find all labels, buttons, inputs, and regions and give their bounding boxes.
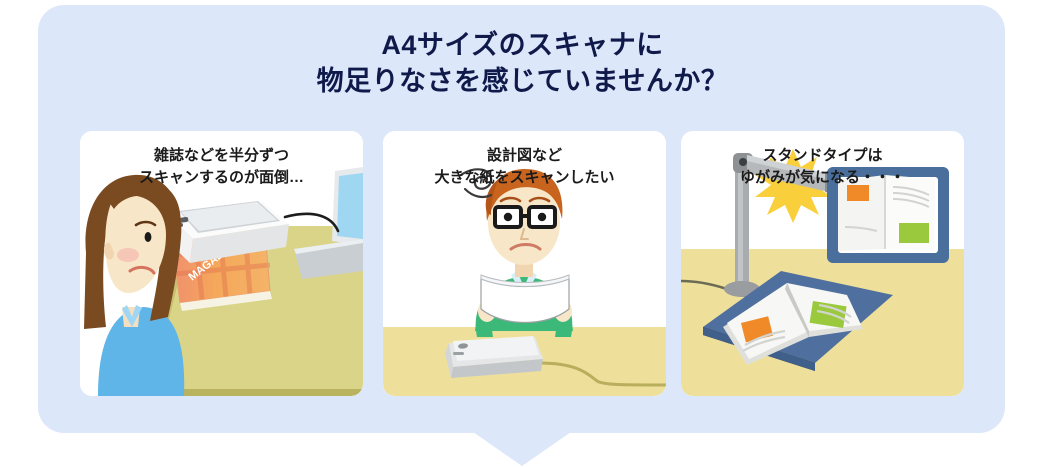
headline-line-2: 物足りなさを感じていませんか？: [0, 64, 1045, 100]
caption-line-2: ゆがみが気になる・・・: [681, 167, 964, 189]
caption-line-1: 設計図など: [383, 145, 666, 167]
preview-sticky-green: [899, 223, 929, 243]
eye: [145, 232, 152, 242]
card-caption: 雑誌などを半分ずつ スキャンするのが面倒…: [80, 145, 363, 189]
caption-line-1: 雑誌などを半分ずつ: [80, 145, 363, 167]
promo-banner: A4サイズのスキャナに 物足りなさを感じていませんか？ 雑誌などを半分ずつ スキ…: [0, 0, 1045, 467]
card-stand-type-scan: スタンドタイプは ゆがみが気になる・・・: [681, 131, 964, 396]
panel-arrow-notch: [473, 432, 571, 466]
card-caption: 設計図など 大きな紙をスキャンしたい: [383, 145, 666, 189]
large-paper: [481, 275, 569, 323]
caption-line-2: 大きな紙をスキャンしたい: [383, 167, 666, 189]
page-title: A4サイズのスキャナに 物足りなさを感じていませんか？: [0, 28, 1045, 99]
headline-line-1: A4サイズのスキャナに: [0, 28, 1045, 64]
caption-line-1: スタンドタイプは: [681, 145, 964, 167]
caption-line-2: スキャンするのが面倒…: [80, 167, 363, 189]
flatbed-scanner: [445, 336, 543, 378]
card-caption: スタンドタイプは ゆがみが気になる・・・: [681, 145, 964, 189]
cheek-blush: [117, 248, 139, 262]
card-magazine-scan: 雑誌などを半分ずつ スキャンするのが面倒…: [80, 131, 363, 396]
card-large-paper-scan: 設計図など 大きな紙をスキャンしたい: [383, 131, 666, 396]
